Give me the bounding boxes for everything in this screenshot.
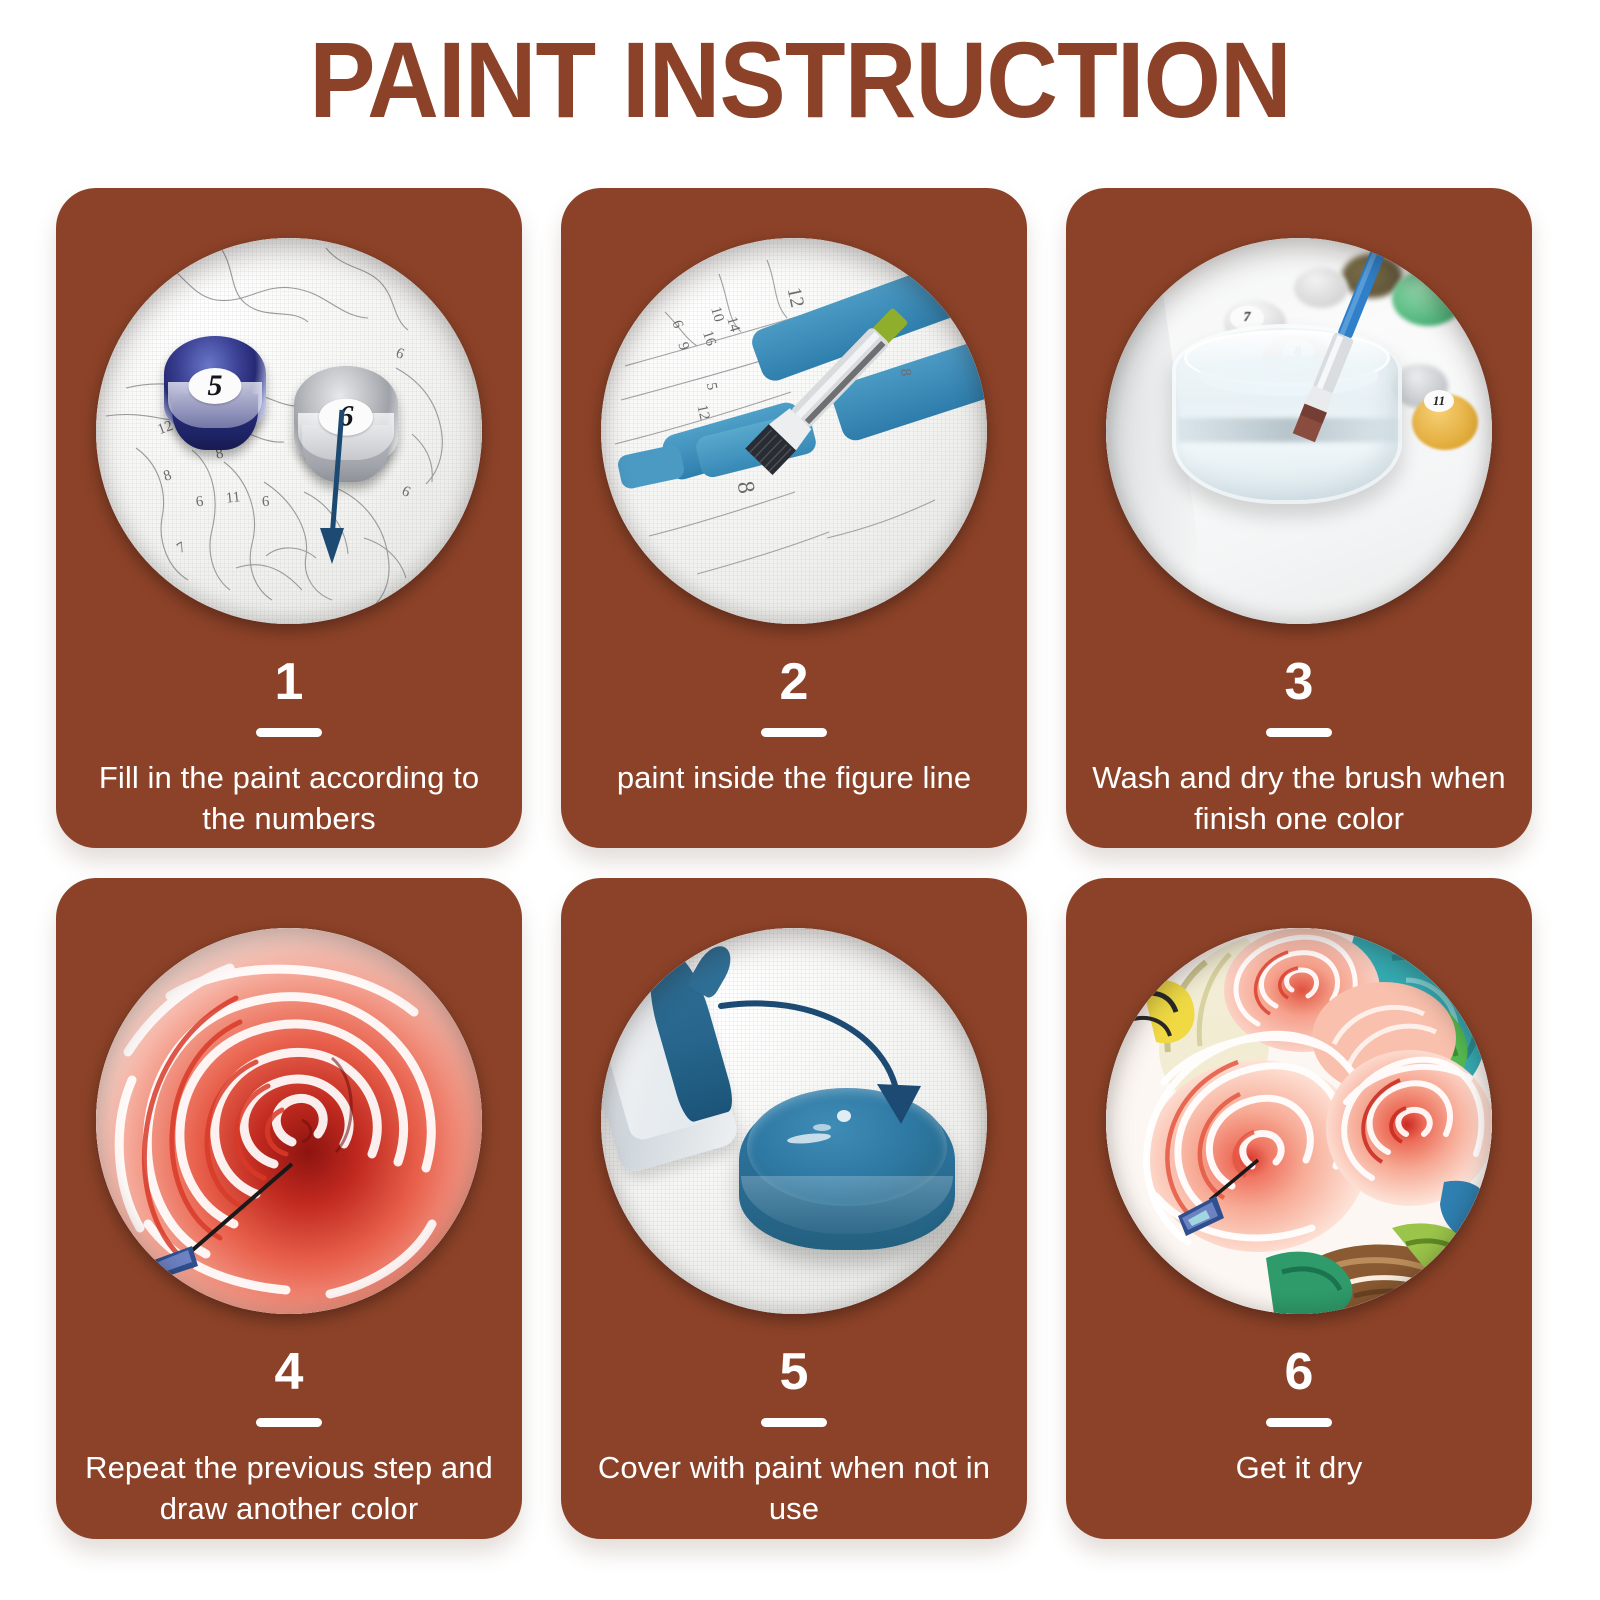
step-2-number: 2 [561, 656, 1027, 708]
step-6-image [1106, 928, 1492, 1314]
step-2-image: 12 10 14 16 6 9 5 12 8 8 [601, 238, 987, 624]
rose-bouquet-painting [1106, 928, 1492, 1314]
step-1-image: 12 8 8 6 11 6 7 6 6 5 [96, 238, 482, 624]
step-5-number: 5 [561, 1346, 1027, 1398]
step-5-image [601, 928, 987, 1314]
step-card-4[interactable]: 4 Repeat the previous step and draw anot… [56, 878, 522, 1539]
step-card-1[interactable]: 12 8 8 6 11 6 7 6 6 5 [56, 188, 522, 848]
step-4-image [96, 928, 482, 1314]
step-3-divider [1266, 728, 1332, 737]
step-3-image: 7 8 11 [1106, 238, 1492, 624]
steps-grid: 12 8 8 6 11 6 7 6 6 5 [56, 188, 1544, 1539]
page-title: PAINT INSTRUCTION [64, 26, 1536, 134]
step-3-number: 3 [1066, 656, 1532, 708]
paint-brush-icon [1106, 238, 1492, 624]
step-1-caption: Fill in the paint according to the numbe… [74, 758, 504, 840]
step-card-3[interactable]: 7 8 11 [1066, 188, 1532, 848]
step-card-6[interactable]: 6 Get it dry [1066, 878, 1532, 1539]
step-3-caption: Wash and dry the brush when finish one c… [1084, 758, 1514, 840]
step-4-divider [256, 1418, 322, 1427]
step-5-caption: Cover with paint when not in use [579, 1448, 1009, 1530]
step-2-caption: paint inside the figure line [579, 758, 1009, 799]
step-6-caption: Get it dry [1084, 1448, 1514, 1489]
rose-painting-closeup [96, 928, 482, 1314]
step-4-number: 4 [56, 1346, 522, 1398]
step-card-2[interactable]: 12 10 14 16 6 9 5 12 8 8 2 paint inside … [561, 188, 1027, 848]
step-1-number: 1 [56, 656, 522, 708]
down-arrow-icon [96, 238, 482, 624]
curved-arrow-icon [601, 928, 987, 1314]
step-2-divider [761, 728, 827, 737]
step-4-caption: Repeat the previous step and draw anothe… [74, 1448, 504, 1530]
step-card-5[interactable]: 5 Cover with paint when not in use [561, 878, 1027, 1539]
step-5-divider [761, 1418, 827, 1427]
step-6-number: 6 [1066, 1346, 1532, 1398]
step-6-divider [1266, 1418, 1332, 1427]
step-1-divider [256, 728, 322, 737]
